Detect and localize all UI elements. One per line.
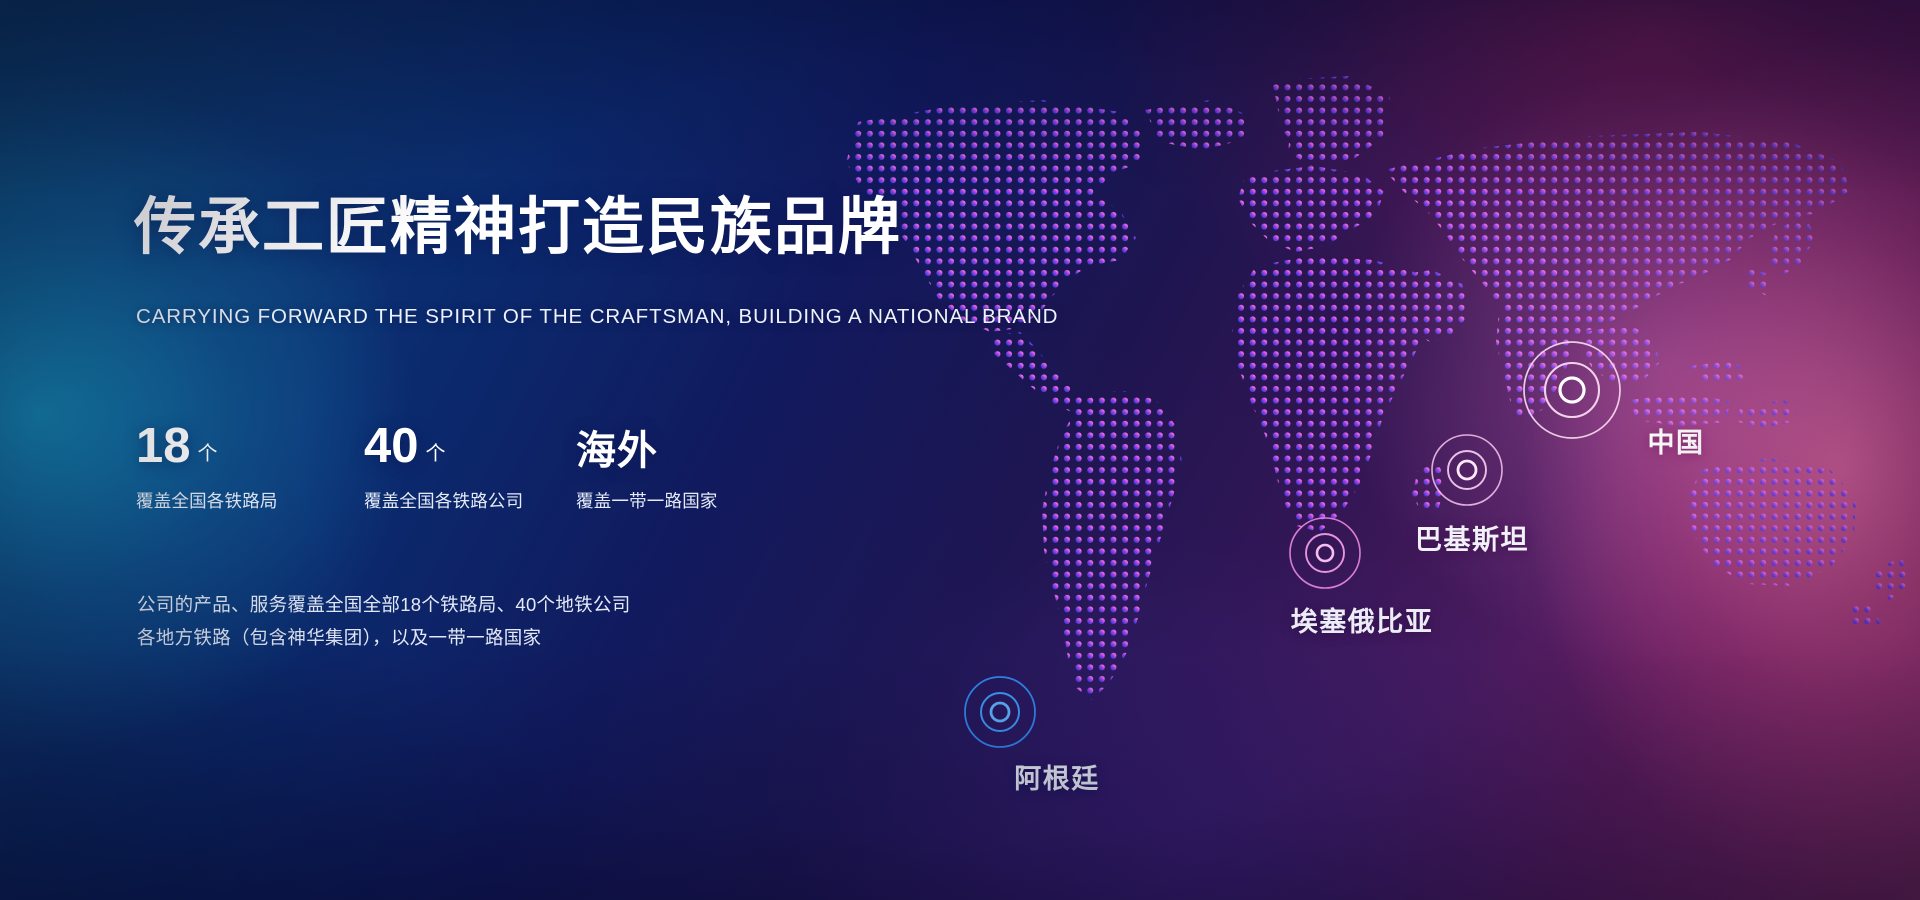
stat-value: 海外 bbox=[576, 431, 658, 471]
stat-item: 40 个 覆盖全国各铁路公司 bbox=[364, 415, 523, 513]
description-line-2: 各地方铁路（包含神华集团），以及一带一路国家 bbox=[137, 621, 631, 654]
page-title: 传承工匠精神打造民族品牌 bbox=[134, 195, 902, 260]
stat-unit: 个 bbox=[198, 437, 218, 466]
description-line-1: 公司的产品、服务覆盖全国全部18个铁路局、40个地铁公司 bbox=[137, 588, 631, 621]
stat-description: 覆盖一带一路国家 bbox=[576, 488, 718, 513]
hero-banner: 中国 巴基斯坦 埃塞俄比亚 阿根廷 bbox=[0, 0, 1920, 900]
page-subtitle: CARRYING FORWARD THE SPIRIT OF THE CRAFT… bbox=[136, 305, 1058, 329]
stat-value: 40 bbox=[364, 422, 419, 471]
stat-description: 覆盖全国各铁路公司 bbox=[364, 488, 523, 513]
stat-item: 18 个 覆盖全国各铁路局 bbox=[136, 415, 278, 513]
stat-unit: 个 bbox=[426, 437, 446, 466]
stat-value: 18 bbox=[136, 422, 191, 471]
description-paragraph: 公司的产品、服务覆盖全国全部18个铁路局、40个地铁公司 各地方铁路（包含神华集… bbox=[137, 588, 631, 654]
stats-row: 18 个 覆盖全国各铁路局 40 个 覆盖全国各铁路公司 海外 覆盖一带一路国家 bbox=[136, 415, 856, 515]
stat-description: 覆盖全国各铁路局 bbox=[136, 488, 278, 513]
stat-item: 海外 覆盖一带一路国家 bbox=[576, 415, 718, 513]
